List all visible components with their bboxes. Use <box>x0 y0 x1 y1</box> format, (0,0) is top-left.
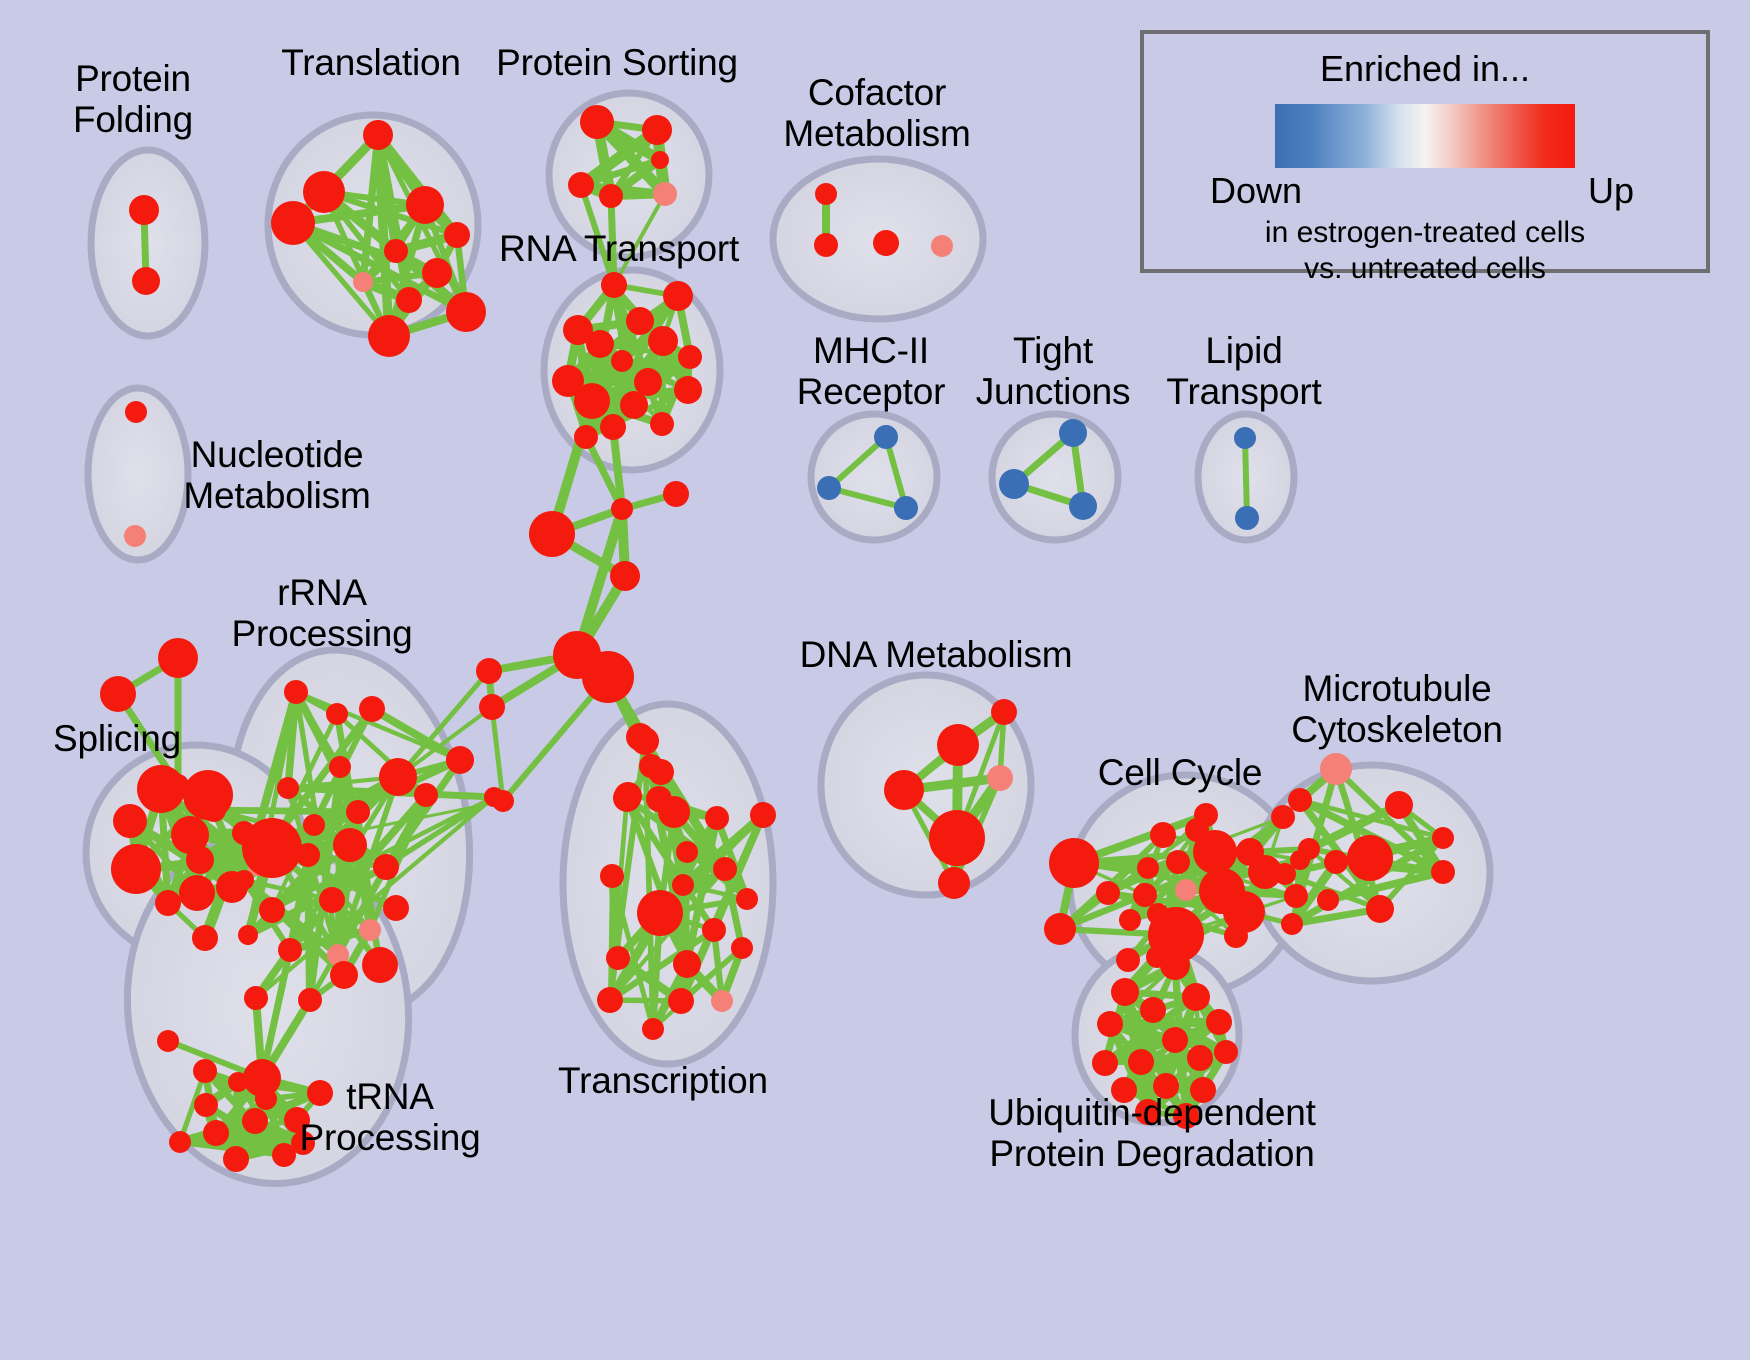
node-rrna-processing <box>242 818 302 878</box>
node-transcription <box>658 796 690 828</box>
node-central-chain <box>611 498 633 520</box>
node-microtubule <box>1347 835 1393 881</box>
node-trna-processing <box>169 1131 191 1153</box>
node-central-chain <box>582 651 634 703</box>
node-microtubule <box>1288 788 1312 812</box>
enrichment-map-figure: Protein FoldingTranslationNucleotide Met… <box>0 0 1750 1360</box>
node-rrna-processing <box>244 986 268 1010</box>
node-cell-cycle <box>1049 838 1099 888</box>
node-translation <box>396 287 422 313</box>
cluster-label-cell-cycle: Cell Cycle <box>1098 752 1263 793</box>
node-splicing <box>111 844 161 894</box>
edge <box>180 1142 303 1143</box>
node-translation <box>303 171 345 213</box>
legend-caption-line2: vs. untreated cells <box>1144 252 1706 286</box>
node-protein-folding <box>129 195 159 225</box>
node-mhc-ii <box>874 425 898 449</box>
node-transcription <box>668 988 694 1014</box>
node-microtubule <box>1281 913 1303 935</box>
node-rrna-processing <box>484 787 504 807</box>
node-mhc-ii <box>894 496 918 520</box>
node-cell-cycle <box>1271 805 1295 829</box>
node-cofactor-metabolism <box>814 233 838 257</box>
node-transcription <box>750 802 776 828</box>
node-transcription <box>713 857 737 881</box>
node-rna-transport <box>663 281 693 311</box>
node-ubiquitin <box>1206 1009 1232 1035</box>
node-central-chain <box>479 694 505 720</box>
node-ubiquitin <box>1214 1040 1238 1064</box>
node-protein-sorting <box>642 115 672 145</box>
node-cell-cycle <box>1166 850 1190 874</box>
node-rrna-processing <box>379 758 417 796</box>
node-rrna-processing <box>446 746 474 774</box>
node-protein-sorting <box>599 184 623 208</box>
node-central-chain <box>529 511 575 557</box>
node-cofactor-metabolism <box>873 230 899 256</box>
node-cofactor-metabolism <box>815 183 837 205</box>
node-splicing <box>167 774 189 796</box>
node-splicing <box>113 804 147 838</box>
edge <box>610 876 612 1000</box>
node-microtubule <box>1320 753 1352 785</box>
node-cell-cycle <box>1044 913 1076 945</box>
node-dna-metabolism <box>937 724 979 766</box>
node-rrna-processing <box>238 925 258 945</box>
node-rna-transport <box>600 414 626 440</box>
node-protein-sorting <box>653 182 677 206</box>
node-rrna-processing <box>319 887 345 913</box>
node-transcription <box>637 890 683 936</box>
node-translation <box>406 186 444 224</box>
node-splicing <box>158 638 198 678</box>
node-rrna-processing <box>383 895 409 921</box>
node-rna-transport <box>650 412 674 436</box>
node-rrna-processing <box>330 961 358 989</box>
cluster-label-rna-transport: RNA Transport <box>499 228 739 269</box>
node-ubiquitin <box>1128 1049 1154 1075</box>
node-dna-metabolism <box>938 867 970 899</box>
node-rrna-processing <box>333 828 367 862</box>
node-dna-metabolism <box>987 765 1013 791</box>
node-nucleotide-metabolism <box>124 525 146 547</box>
node-transcription <box>613 784 641 812</box>
node-trna-processing <box>255 1088 277 1110</box>
node-translation <box>444 222 470 248</box>
cluster-label-tight-junctions: Tight Junctions <box>976 330 1131 413</box>
node-translation <box>384 239 408 263</box>
node-rna-transport <box>626 307 654 335</box>
node-lipid-transport <box>1234 427 1256 449</box>
cluster-label-ubiquitin-protein-degradation: Ubiquitin-dependent Protein Degradation <box>988 1092 1315 1175</box>
node-rrna-processing <box>359 696 385 722</box>
node-rna-transport <box>674 376 702 404</box>
node-protein-sorting <box>580 105 614 139</box>
node-transcription <box>631 727 659 755</box>
node-rrna-processing <box>362 947 398 983</box>
cluster-label-trna-processing: tRNA Processing <box>299 1076 480 1159</box>
node-ubiquitin <box>1182 983 1210 1011</box>
node-transcription <box>702 918 726 942</box>
cluster-label-splicing: Splicing <box>53 718 181 759</box>
cluster-label-transcription: Transcription <box>558 1060 768 1101</box>
node-cell-cycle <box>1096 881 1120 905</box>
legend-panel: Enriched in... Down Up in estrogen-treat… <box>1140 30 1710 273</box>
cluster-label-microtubule-cytoskeleton: Microtubule Cytoskeleton <box>1291 668 1503 751</box>
node-splicing <box>186 846 214 874</box>
node-rrna-processing <box>234 870 254 890</box>
node-rna-transport <box>620 391 648 419</box>
node-transcription <box>642 1018 664 1040</box>
node-transcription <box>711 990 733 1012</box>
node-transcription <box>597 987 623 1013</box>
node-rrna-processing <box>202 798 226 822</box>
node-rrna-processing <box>373 854 399 880</box>
node-rna-transport <box>574 383 610 419</box>
node-translation <box>353 272 373 292</box>
node-trna-processing <box>203 1120 229 1146</box>
node-cell-cycle <box>1194 803 1218 827</box>
legend-up-label: Up <box>1588 170 1634 212</box>
node-cell-cycle <box>1284 884 1308 908</box>
node-central-chain <box>610 561 640 591</box>
node-cell-cycle <box>1193 830 1237 874</box>
node-splicing <box>179 875 215 911</box>
node-rna-transport <box>601 272 627 298</box>
node-microtubule <box>1317 889 1339 911</box>
node-splicing <box>100 676 136 712</box>
node-splicing <box>192 925 218 951</box>
node-cell-cycle <box>1150 822 1176 848</box>
node-translation <box>363 120 393 150</box>
node-trna-processing <box>157 1030 179 1052</box>
node-translation <box>368 315 410 357</box>
cluster-label-mhc-ii-receptor: MHC-II Receptor <box>797 330 946 413</box>
node-transcription <box>648 759 674 785</box>
node-trna-processing <box>194 1093 218 1117</box>
node-rrna-processing <box>359 919 381 941</box>
node-ubiquitin <box>1097 1011 1123 1037</box>
node-rrna-processing <box>329 756 351 778</box>
node-transcription <box>673 950 701 978</box>
node-central-chain <box>663 481 689 507</box>
node-cell-cycle <box>1133 883 1157 907</box>
node-cell-cycle <box>1224 924 1248 948</box>
node-rrna-processing <box>303 814 325 836</box>
node-trna-processing <box>242 1108 268 1134</box>
node-trna-processing <box>223 1146 249 1172</box>
node-tight-junctions <box>1069 492 1097 520</box>
node-microtubule <box>1324 850 1348 874</box>
cluster-label-rrna-processing: rRNA Processing <box>231 572 412 655</box>
node-rna-transport <box>586 330 614 358</box>
legend-color-bar <box>1275 104 1575 168</box>
node-rna-transport <box>611 350 633 372</box>
node-microtubule <box>1298 838 1320 860</box>
node-ubiquitin <box>1111 978 1139 1006</box>
node-rrna-processing <box>278 938 302 962</box>
cluster-label-dna-metabolism: DNA Metabolism <box>800 634 1073 675</box>
node-microtubule <box>1274 863 1296 885</box>
node-transcription <box>606 946 630 970</box>
edge <box>1245 438 1247 518</box>
node-ubiquitin <box>1162 1027 1188 1053</box>
cluster-label-protein-sorting: Protein Sorting <box>496 42 738 83</box>
node-rna-transport <box>678 345 702 369</box>
node-rrna-processing <box>414 783 438 807</box>
node-transcription <box>676 841 698 863</box>
node-tight-junctions <box>999 469 1029 499</box>
node-dna-metabolism <box>884 770 924 810</box>
node-nucleotide-metabolism <box>125 401 147 423</box>
cluster-label-protein-folding: Protein Folding <box>73 58 193 141</box>
node-rrna-processing <box>284 680 308 704</box>
node-mhc-ii <box>817 476 841 500</box>
node-central-chain <box>476 658 502 684</box>
node-transcription <box>672 874 694 896</box>
node-translation <box>422 258 452 288</box>
node-rna-transport <box>574 425 598 449</box>
node-rna-transport <box>648 326 678 356</box>
node-microtubule <box>1432 827 1454 849</box>
node-microtubule <box>1385 791 1413 819</box>
node-rrna-processing <box>277 777 299 799</box>
node-rrna-processing <box>326 703 348 725</box>
node-ubiquitin <box>1140 997 1166 1023</box>
cluster-label-nucleotide-metabolism: Nucleotide Metabolism <box>183 434 370 517</box>
legend-caption-line1: in estrogen-treated cells <box>1144 216 1706 250</box>
node-trna-processing <box>228 1072 248 1092</box>
node-trna-processing <box>193 1059 217 1083</box>
node-microtubule <box>1366 895 1394 923</box>
node-protein-sorting <box>651 151 669 169</box>
node-tight-junctions <box>1059 419 1087 447</box>
node-transcription <box>736 888 758 910</box>
legend-down-label: Down <box>1210 170 1302 212</box>
node-dna-metabolism <box>929 810 985 866</box>
node-ubiquitin <box>1092 1050 1118 1076</box>
node-transcription <box>705 806 729 830</box>
node-transcription <box>731 937 753 959</box>
node-cell-cycle <box>1119 909 1141 931</box>
node-rrna-processing <box>346 800 370 824</box>
node-microtubule <box>1431 860 1455 884</box>
edge <box>492 707 503 801</box>
node-translation <box>271 201 315 245</box>
node-ubiquitin <box>1160 950 1190 980</box>
legend-title: Enriched in... <box>1144 48 1706 90</box>
node-cell-cycle <box>1137 857 1159 879</box>
node-protein-sorting <box>568 172 594 198</box>
cluster-label-cofactor-metabolism: Cofactor Metabolism <box>783 72 970 155</box>
node-rrna-processing <box>259 897 285 923</box>
node-ubiquitin <box>1187 1045 1213 1071</box>
node-protein-folding <box>132 267 160 295</box>
node-transcription <box>600 864 624 888</box>
node-dna-metabolism <box>991 699 1017 725</box>
node-translation <box>446 292 486 332</box>
node-rrna-processing <box>298 988 322 1012</box>
cluster-label-translation: Translation <box>281 42 460 83</box>
node-splicing <box>155 890 181 916</box>
node-lipid-transport <box>1235 506 1259 530</box>
node-cell-cycle <box>1116 948 1140 972</box>
node-cofactor-metabolism <box>931 235 953 257</box>
node-cell-cycle <box>1175 879 1197 901</box>
cluster-label-lipid-transport: Lipid Transport <box>1166 330 1321 413</box>
